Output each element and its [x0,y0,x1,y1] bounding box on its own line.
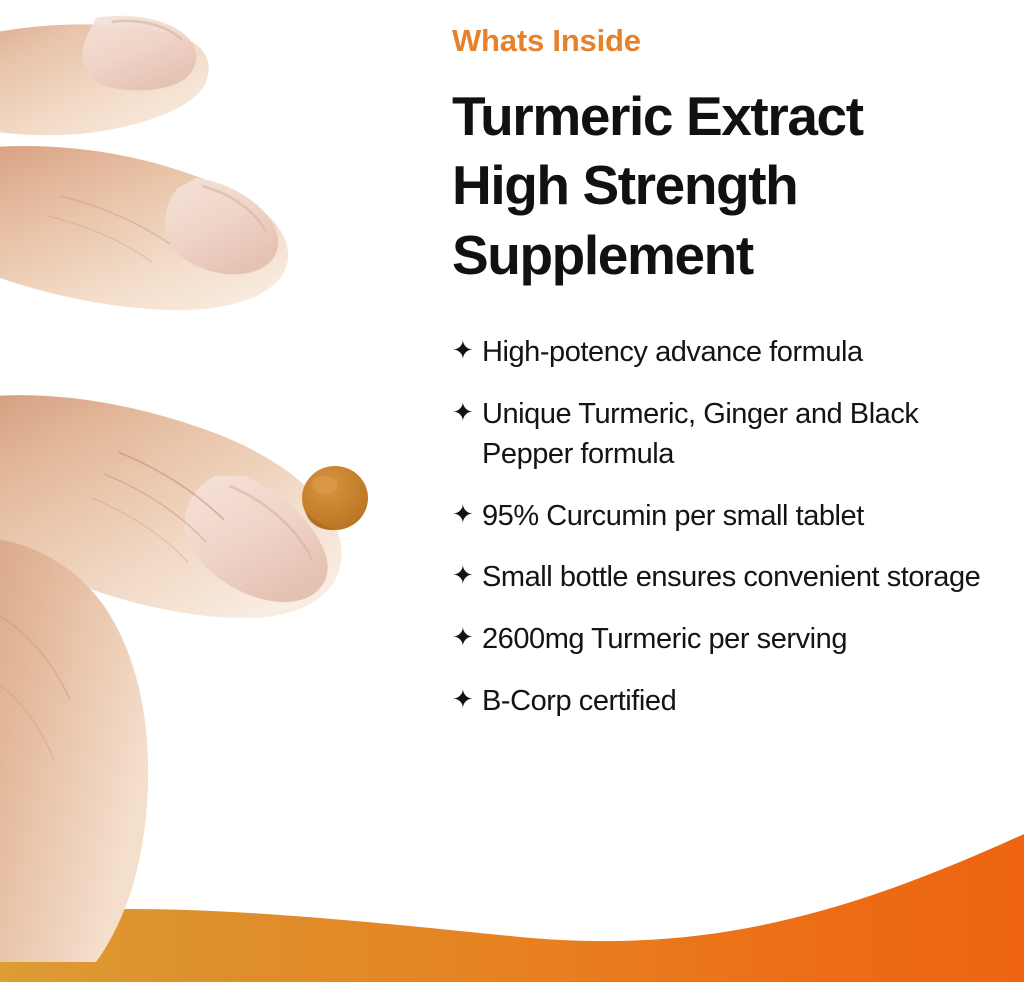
eyebrow-label: Whats Inside [452,24,641,58]
four-point-star-icon: ✦ [452,332,482,369]
list-item: ✦ Unique Turmeric, Ginger and Black Pepp… [452,394,1008,475]
list-item: ✦ B-Corp certified [452,681,1008,722]
list-item: ✦ High-potency advance formula [452,332,1008,373]
benefit-text: High-potency advance formula [482,332,1008,373]
four-point-star-icon: ✦ [452,394,482,431]
hand-holding-tablet-image [0,0,440,982]
list-item: ✦ Small bottle ensures convenient storag… [452,557,1008,598]
benefit-text: B-Corp certified [482,681,1008,722]
benefit-text: 2600mg Turmeric per serving [482,619,1008,660]
benefit-text: Unique Turmeric, Ginger and Black Pepper… [482,394,1008,475]
list-item: ✦ 2600mg Turmeric per serving [452,619,1008,660]
page-title: Turmeric Extract High Strength Supplemen… [452,82,992,290]
four-point-star-icon: ✦ [452,557,482,594]
whats-inside-infographic: Whats Inside Turmeric Extract High Stren… [0,0,1024,982]
turmeric-tablet [302,466,368,530]
content-column: Whats Inside Turmeric Extract High Stren… [452,0,1008,982]
four-point-star-icon: ✦ [452,681,482,718]
benefits-list: ✦ High-potency advance formula ✦ Unique … [452,332,1008,721]
headline-line-1: Turmeric Extract [452,82,992,151]
benefit-text: Small bottle ensures convenient storage [482,557,1008,598]
benefit-text: 95% Curcumin per small tablet [482,496,1008,537]
four-point-star-icon: ✦ [452,496,482,533]
headline-line-3: Supplement [452,221,992,290]
four-point-star-icon: ✦ [452,619,482,656]
list-item: ✦ 95% Curcumin per small tablet [452,496,1008,537]
headline-line-2: High Strength [452,151,992,220]
